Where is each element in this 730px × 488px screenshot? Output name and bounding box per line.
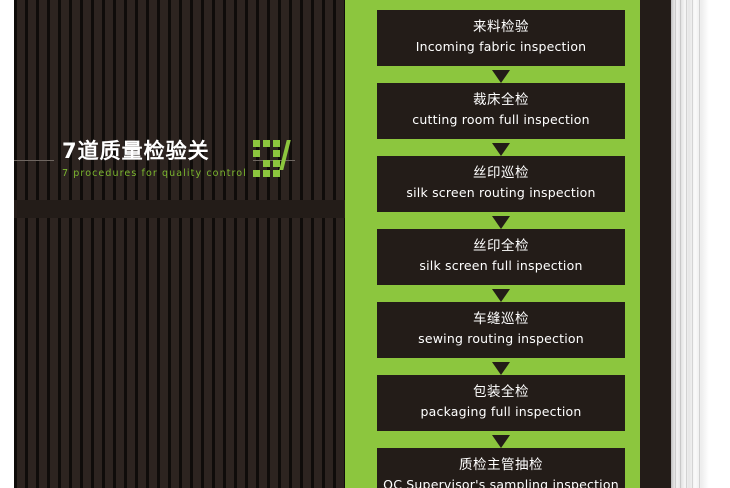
- pixel-checker-mark-icon: [253, 140, 299, 188]
- stripe-pattern-bottom: [14, 218, 345, 488]
- flow-step-label-cn: 裁床全检: [381, 90, 621, 110]
- flow-step-label-en: silk screen full inspection: [381, 256, 621, 276]
- right-dark-band: [640, 0, 671, 488]
- flow-step-label-en: packaging full inspection: [381, 402, 621, 422]
- arrow-down-icon: [492, 435, 510, 448]
- flow-step: 车缝巡检 sewing routing inspection: [377, 302, 625, 358]
- title-block: 7道质量检验关 7 procedures for quality control: [62, 138, 247, 182]
- flow-step-label-en: Incoming fabric inspection: [381, 37, 621, 57]
- flow-step-label-cn: 来料检验: [381, 17, 621, 37]
- flow-step-label-cn: 丝印巡检: [381, 163, 621, 183]
- flow-step-label-cn: 车缝巡检: [381, 309, 621, 329]
- arrow-down-icon: [492, 362, 510, 375]
- title-band: 7道质量检验关 7 procedures for quality control: [14, 123, 345, 197]
- poster-canvas: 7道质量检验关 7 procedures for quality control: [0, 0, 730, 488]
- flow-step-label-en: QC Supervisor's sampling inspection: [381, 475, 621, 488]
- inspection-flow-list: 来料检验 Incoming fabric inspection 裁床全检 cut…: [377, 10, 625, 488]
- page-title-cn: 7道质量检验关: [62, 138, 247, 164]
- title-rule-left: [14, 160, 54, 161]
- flow-step: 来料检验 Incoming fabric inspection: [377, 10, 625, 66]
- flow-step: 丝印巡检 silk screen routing inspection: [377, 156, 625, 212]
- flow-step-label-en: cutting room full inspection: [381, 110, 621, 130]
- flow-step-label-en: sewing routing inspection: [381, 329, 621, 349]
- flow-step-label-en: silk screen routing inspection: [381, 183, 621, 203]
- left-panel: 7道质量检验关 7 procedures for quality control: [14, 0, 345, 488]
- arrow-down-icon: [492, 289, 510, 302]
- flow-step: 裁床全检 cutting room full inspection: [377, 83, 625, 139]
- green-panel: 来料检验 Incoming fabric inspection 裁床全检 cut…: [345, 0, 640, 488]
- flow-step-label-cn: 质检主管抽检: [381, 455, 621, 475]
- flow-step-label-cn: 包装全检: [381, 382, 621, 402]
- left-white-margin: [0, 0, 14, 488]
- flow-step: 丝印全检 silk screen full inspection: [377, 229, 625, 285]
- arrow-down-icon: [492, 143, 510, 156]
- flow-step-label-cn: 丝印全检: [381, 236, 621, 256]
- page-edge-pages: [671, 0, 730, 488]
- arrow-down-icon: [492, 216, 510, 229]
- flow-step: 包装全检 packaging full inspection: [377, 375, 625, 431]
- page-title-en: 7 procedures for quality control: [62, 166, 247, 182]
- flow-step: 质检主管抽检 QC Supervisor's sampling inspecti…: [377, 448, 625, 488]
- arrow-down-icon: [492, 70, 510, 83]
